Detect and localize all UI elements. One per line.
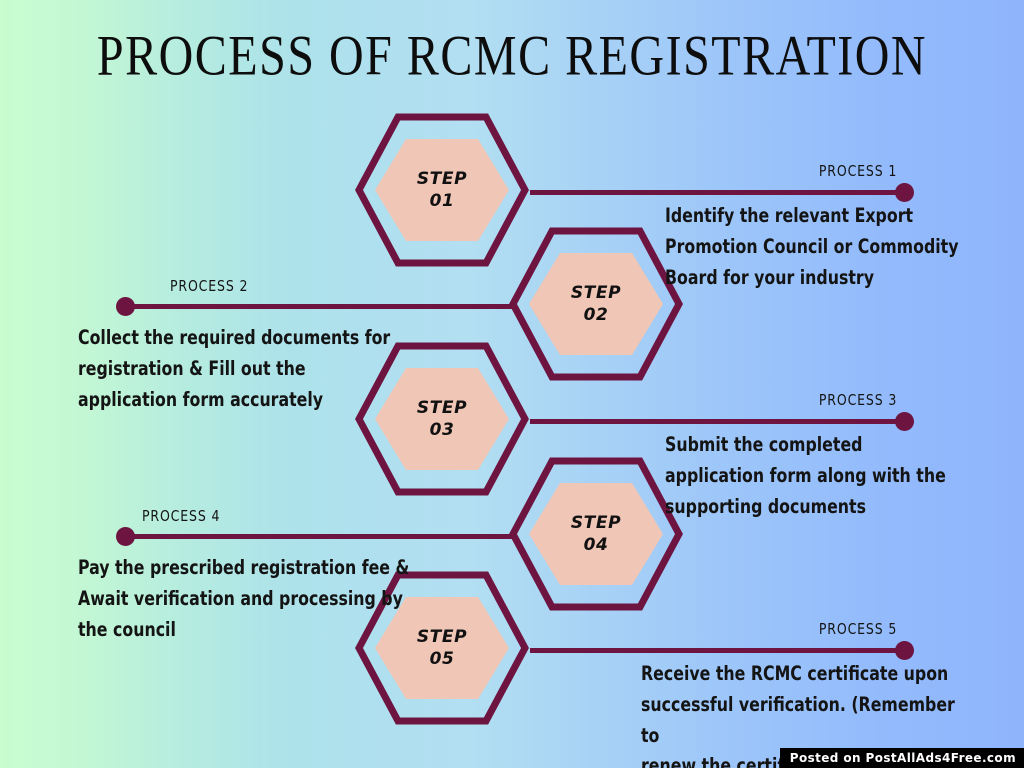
process-body-3: Submit the completed application form al… bbox=[665, 430, 962, 522]
process-line: successful verification. (Remember to bbox=[641, 690, 974, 752]
process-line: the council bbox=[78, 615, 420, 646]
process-body-1: Identify the relevant Export Promotion C… bbox=[665, 201, 962, 293]
process-line: application form along with the bbox=[665, 461, 962, 492]
page-title: PROCESS OF RCMC REGISTRATION bbox=[0, 24, 1024, 89]
process-line: Pay the prescribed registration fee & bbox=[78, 553, 420, 584]
step-node-2[interactable]: STEP 02 bbox=[508, 226, 684, 382]
connector-line-4 bbox=[125, 534, 515, 539]
watermark-banner: Posted on PostAllAds4Free.com bbox=[780, 748, 1024, 768]
process-line: Identify the relevant Export bbox=[665, 201, 962, 232]
process-line: Promotion Council or Commodity bbox=[665, 232, 962, 263]
connector-dot-1 bbox=[895, 183, 914, 202]
process-line: Await verification and processing by bbox=[78, 584, 420, 615]
connector-line-2 bbox=[125, 304, 515, 309]
connector-line-3 bbox=[530, 419, 904, 424]
process-line: Submit the completed bbox=[665, 430, 962, 461]
process-line: Receive the RCMC certificate upon bbox=[641, 659, 974, 690]
process-line: registration & Fill out the bbox=[78, 354, 402, 385]
connector-dot-3 bbox=[895, 412, 914, 431]
connector-dot-5 bbox=[895, 641, 914, 660]
connector-line-1 bbox=[530, 190, 904, 195]
process-tag-3: PROCESS 3 bbox=[819, 391, 897, 409]
process-body-2: Collect the required documents for regis… bbox=[78, 323, 402, 415]
process-line: Board for your industry bbox=[665, 263, 962, 294]
process-line: supporting documents bbox=[665, 492, 962, 523]
connector-dot-2 bbox=[116, 297, 135, 316]
step-node-4[interactable]: STEP 04 bbox=[508, 456, 684, 612]
process-line: Collect the required documents for bbox=[78, 323, 402, 354]
process-tag-2: PROCESS 2 bbox=[170, 277, 248, 295]
step-node-1[interactable]: STEP 01 bbox=[354, 112, 530, 268]
process-tag-1: PROCESS 1 bbox=[819, 162, 897, 180]
infographic-poster: PROCESS OF RCMC REGISTRATION STEP 01 bbox=[0, 0, 1024, 768]
process-tag-5: PROCESS 5 bbox=[819, 620, 897, 638]
connector-dot-4 bbox=[116, 527, 135, 546]
process-line: application form accurately bbox=[78, 385, 402, 416]
process-tag-4: PROCESS 4 bbox=[142, 507, 220, 525]
hexagon-fill bbox=[508, 226, 684, 382]
connector-line-5 bbox=[530, 648, 904, 653]
hexagon-fill bbox=[354, 112, 530, 268]
process-body-4: Pay the prescribed registration fee & Aw… bbox=[78, 553, 420, 645]
hexagon-fill bbox=[508, 456, 684, 612]
